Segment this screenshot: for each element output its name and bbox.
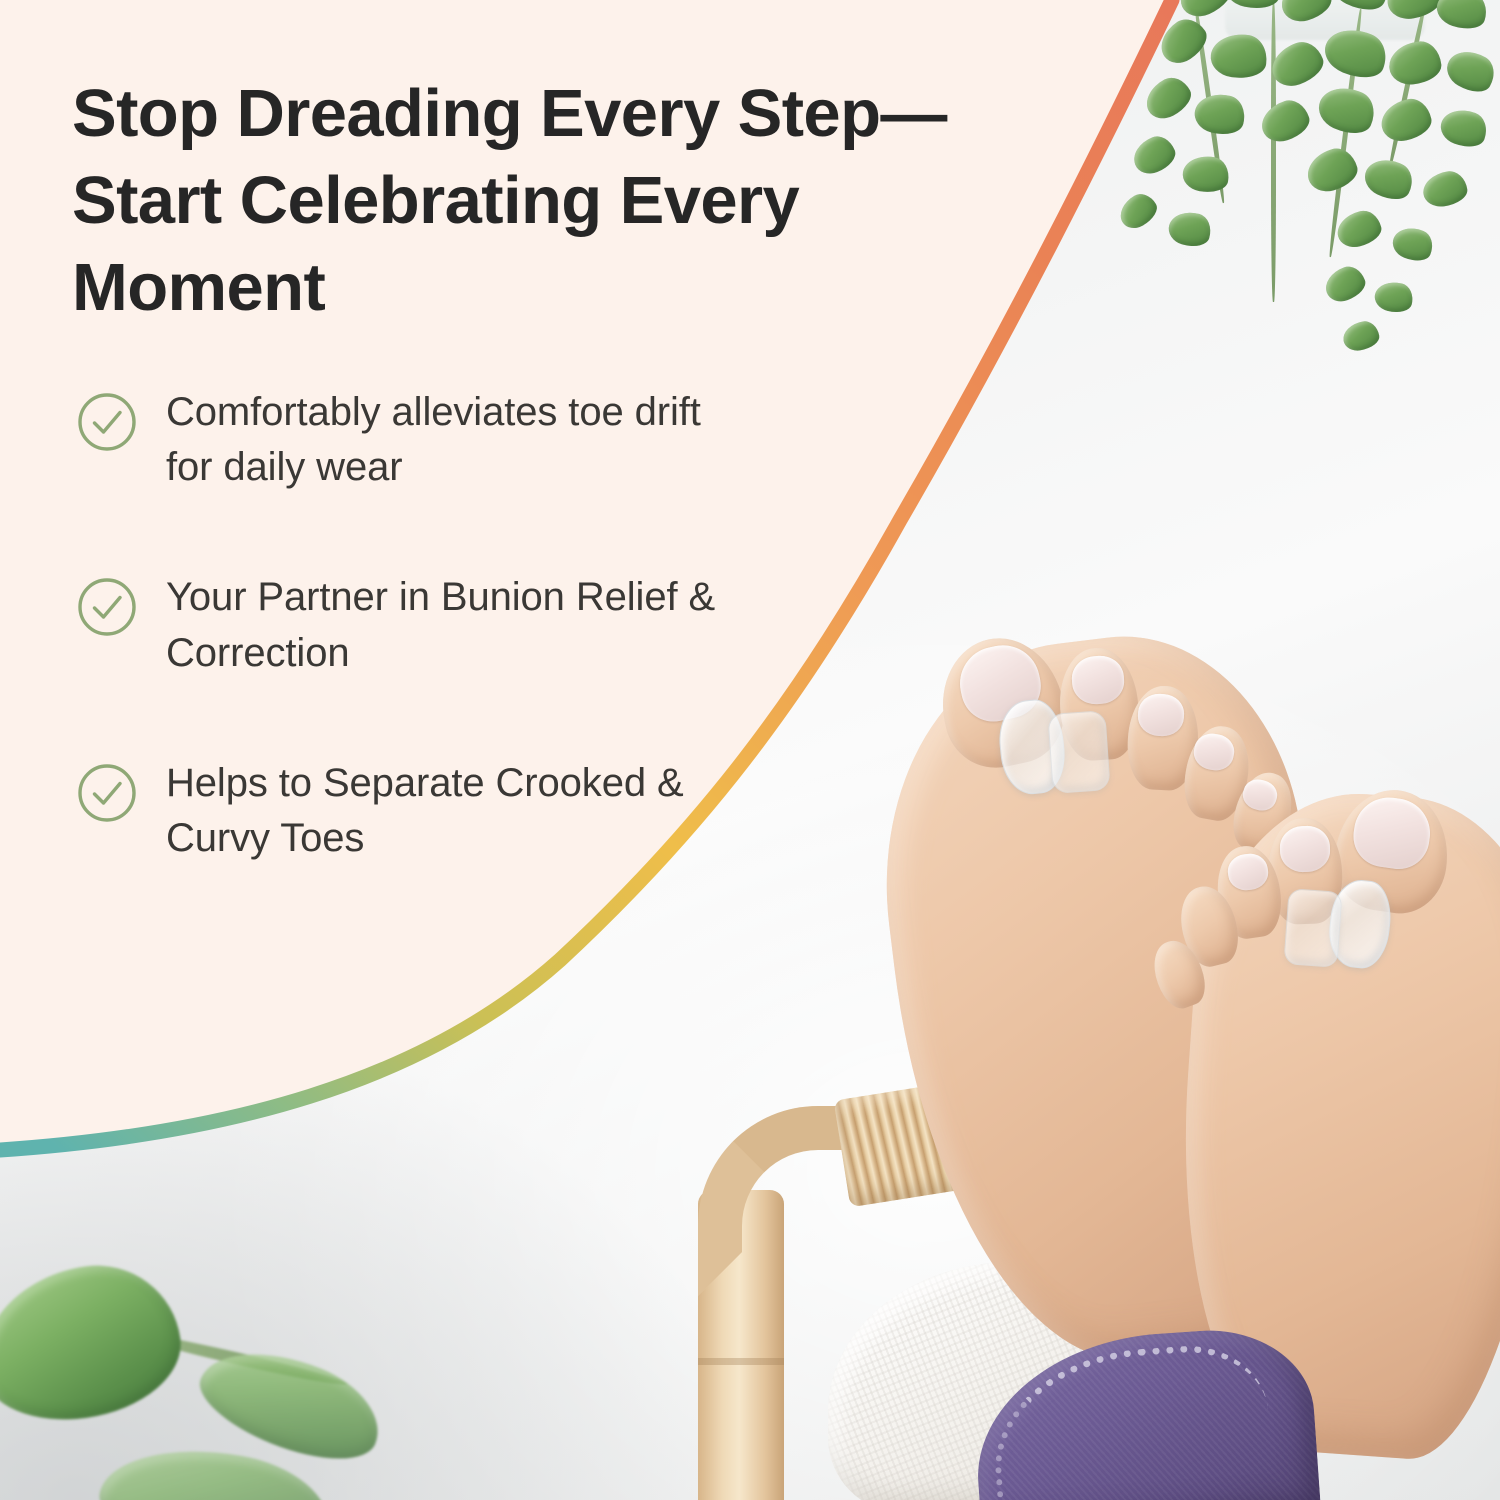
hanging-vine-plant (1075, 0, 1500, 380)
list-item-label: Helps to Separate Crooked & Curvy Toes (166, 756, 716, 866)
benefit-list: Comfortably alleviates toe drift for dai… (76, 385, 716, 866)
pothos-leaf (0, 1240, 390, 1500)
check-circle-icon (76, 576, 138, 638)
gel-separator-loop (1283, 888, 1342, 968)
list-item: Comfortably alleviates toe drift for dai… (76, 385, 716, 495)
page-title: Stop Dreading Every Step—Start Celebrati… (72, 70, 952, 331)
check-circle-icon (76, 762, 138, 824)
gel-separator-loop (1047, 710, 1110, 794)
product-marketing-image: Stop Dreading Every Step—Start Celebrati… (0, 0, 1500, 1500)
check-circle-icon (76, 391, 138, 453)
list-item-label: Your Partner in Bunion Relief & Correcti… (166, 570, 716, 680)
list-item-label: Comfortably alleviates toe drift for dai… (166, 385, 716, 495)
list-item: Your Partner in Bunion Relief & Correcti… (76, 570, 716, 680)
list-item: Helps to Separate Crooked & Curvy Toes (76, 756, 716, 866)
